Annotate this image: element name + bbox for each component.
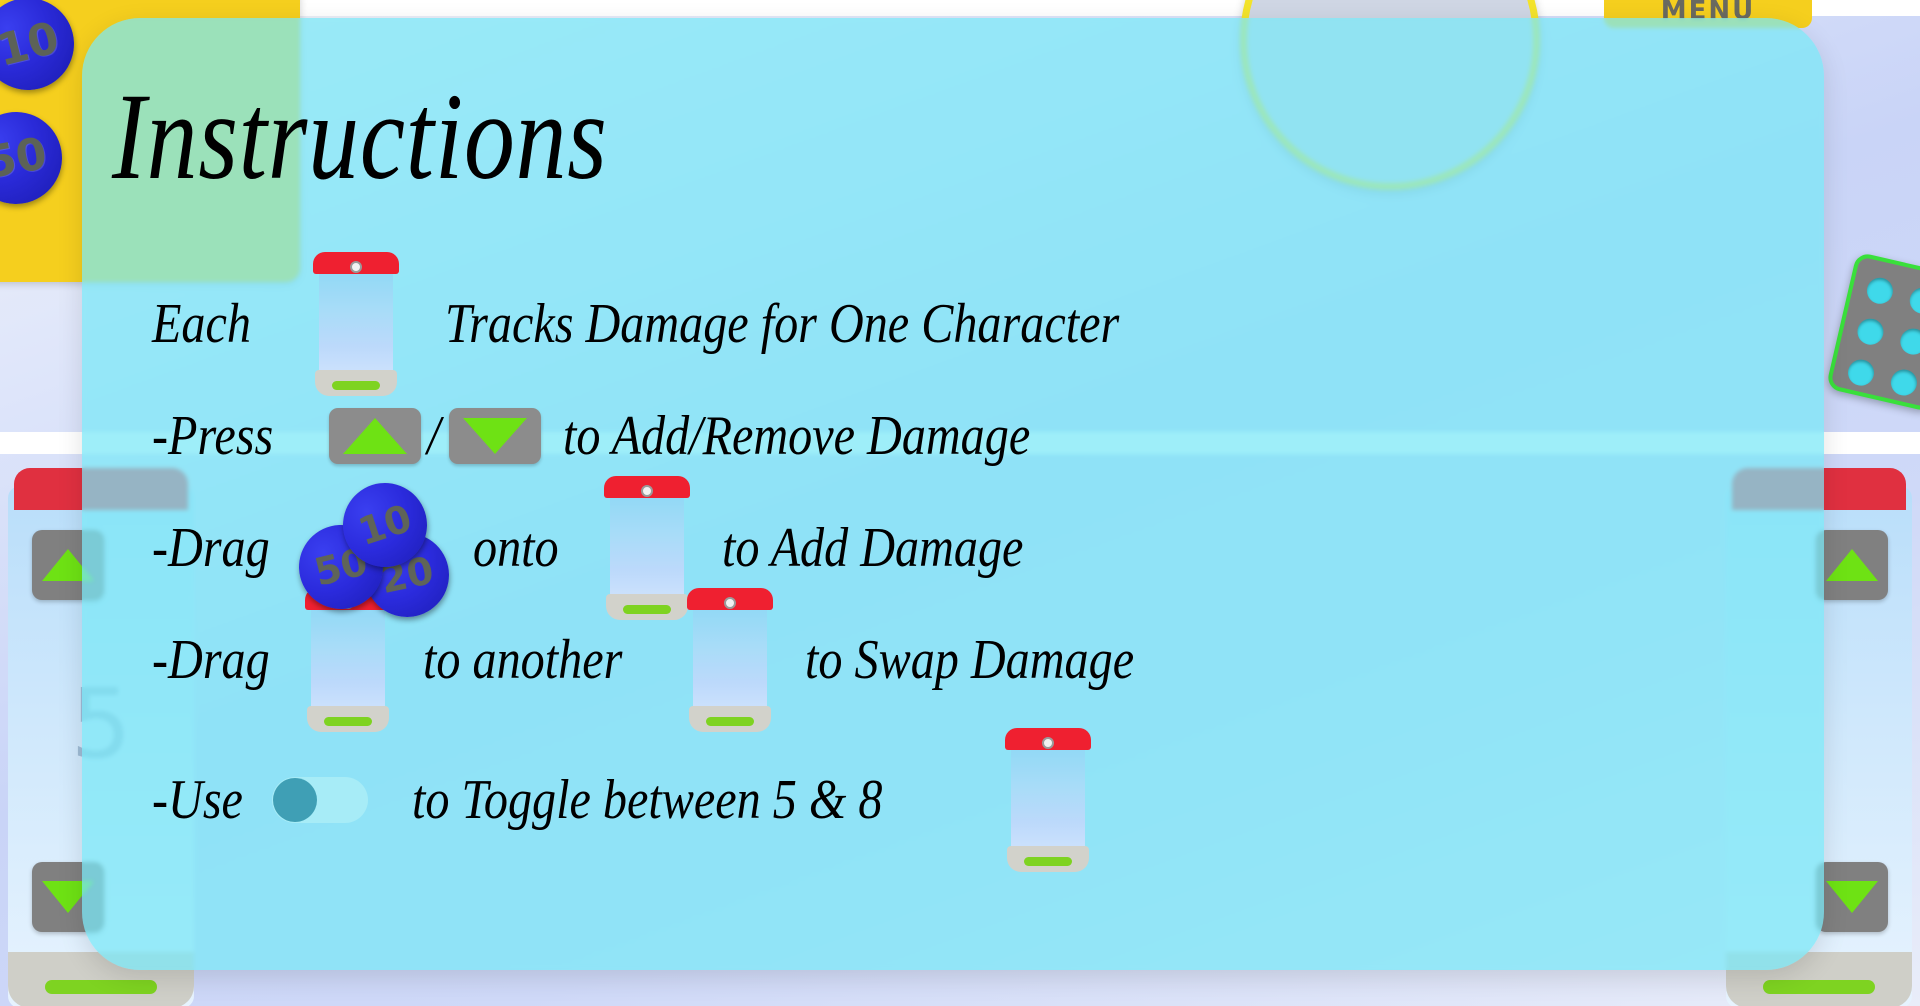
token-cluster-illustration: 10 50 20 <box>299 483 469 613</box>
instruction-text: to Add Damage <box>722 516 1023 580</box>
instruction-text: -Drag <box>152 516 270 580</box>
instruction-text: to another <box>423 628 622 692</box>
dice-dot-icon <box>1907 285 1920 316</box>
card-pin-dot-icon <box>641 485 653 497</box>
arrow-up-button-illustration <box>329 408 421 464</box>
card-pin-dot-icon <box>350 261 362 273</box>
dice-dot-icon <box>1898 326 1920 357</box>
triangle-up-icon <box>1826 549 1878 581</box>
card-pin-dot-icon <box>724 597 736 609</box>
damage-token[interactable]: 10 <box>0 0 84 100</box>
app-stage: MENU 10 50 5 <box>0 0 1920 1006</box>
arrow-down-button-illustration <box>449 408 541 464</box>
card-pin-dot-icon <box>1042 737 1054 749</box>
card-status-bar <box>706 717 754 726</box>
card-body <box>693 602 767 714</box>
damage-token[interactable]: 50 <box>0 105 69 212</box>
toggle-switch-illustration <box>272 777 368 823</box>
card-body <box>311 602 385 714</box>
card-status-bar <box>332 381 380 390</box>
triangle-up-icon <box>343 418 407 454</box>
card-body <box>319 266 393 378</box>
dice-grid-widget[interactable] <box>1826 252 1920 413</box>
instruction-text: to Swap Damage <box>805 628 1134 692</box>
instruction-row-toggle: -Use to Toggle between 5 & 8 <box>152 744 1784 856</box>
damage-card-illustration <box>604 476 690 620</box>
damage-card-illustration <box>313 252 399 396</box>
instruction-row-swap: -Drag to another <box>152 604 1784 716</box>
damage-card-illustration <box>687 588 773 732</box>
damage-card-illustration <box>1005 728 1091 872</box>
instructions-overlay[interactable]: Instructions Each Tracks Damage for One … <box>82 18 1824 970</box>
instruction-text: -Press <box>152 404 273 468</box>
damage-token-value: 50 <box>0 128 51 189</box>
instruction-row-press: -Press / to Add/Remove Damage <box>152 380 1784 492</box>
instruction-row-drag-token: -Drag 10 50 20 onto <box>152 492 1784 604</box>
dice-dot-icon <box>1888 367 1919 398</box>
triangle-down-icon <box>463 418 527 454</box>
card-body <box>1011 742 1085 854</box>
card-increment-button[interactable] <box>1816 530 1888 600</box>
instruction-text: Tracks Damage for One Character <box>445 292 1119 356</box>
card-status-bar <box>1763 980 1875 994</box>
damage-token-value: 10 <box>353 496 417 554</box>
instruction-text: onto <box>473 516 559 580</box>
instruction-text: to Toggle between 5 & 8 <box>412 768 882 832</box>
card-body <box>610 490 684 602</box>
instruction-text: -Drag <box>152 628 270 692</box>
instruction-text: Each <box>152 292 251 356</box>
dice-dot-icon <box>1855 316 1886 347</box>
toggle-knob <box>273 778 317 822</box>
triangle-down-icon <box>1826 881 1878 913</box>
card-status-bar <box>623 605 671 614</box>
card-status-bar <box>1024 857 1072 866</box>
instruction-text: -Use <box>152 768 243 832</box>
instruction-text: to Add/Remove Damage <box>563 404 1030 468</box>
dice-dot-icon <box>1845 357 1876 388</box>
damage-token-value: 10 <box>0 12 64 76</box>
damage-card-illustration <box>305 588 391 732</box>
page-title: Instructions <box>112 66 608 208</box>
card-decrement-button[interactable] <box>1816 862 1888 932</box>
card-status-bar <box>324 717 372 726</box>
instruction-separator: / <box>427 404 440 468</box>
instruction-row-each: Each Tracks Damage for One Character <box>152 268 1784 380</box>
card-status-bar <box>45 980 157 994</box>
instruction-list: Each Tracks Damage for One Character -Pr… <box>152 268 1784 856</box>
dice-dot-icon <box>1864 275 1895 306</box>
